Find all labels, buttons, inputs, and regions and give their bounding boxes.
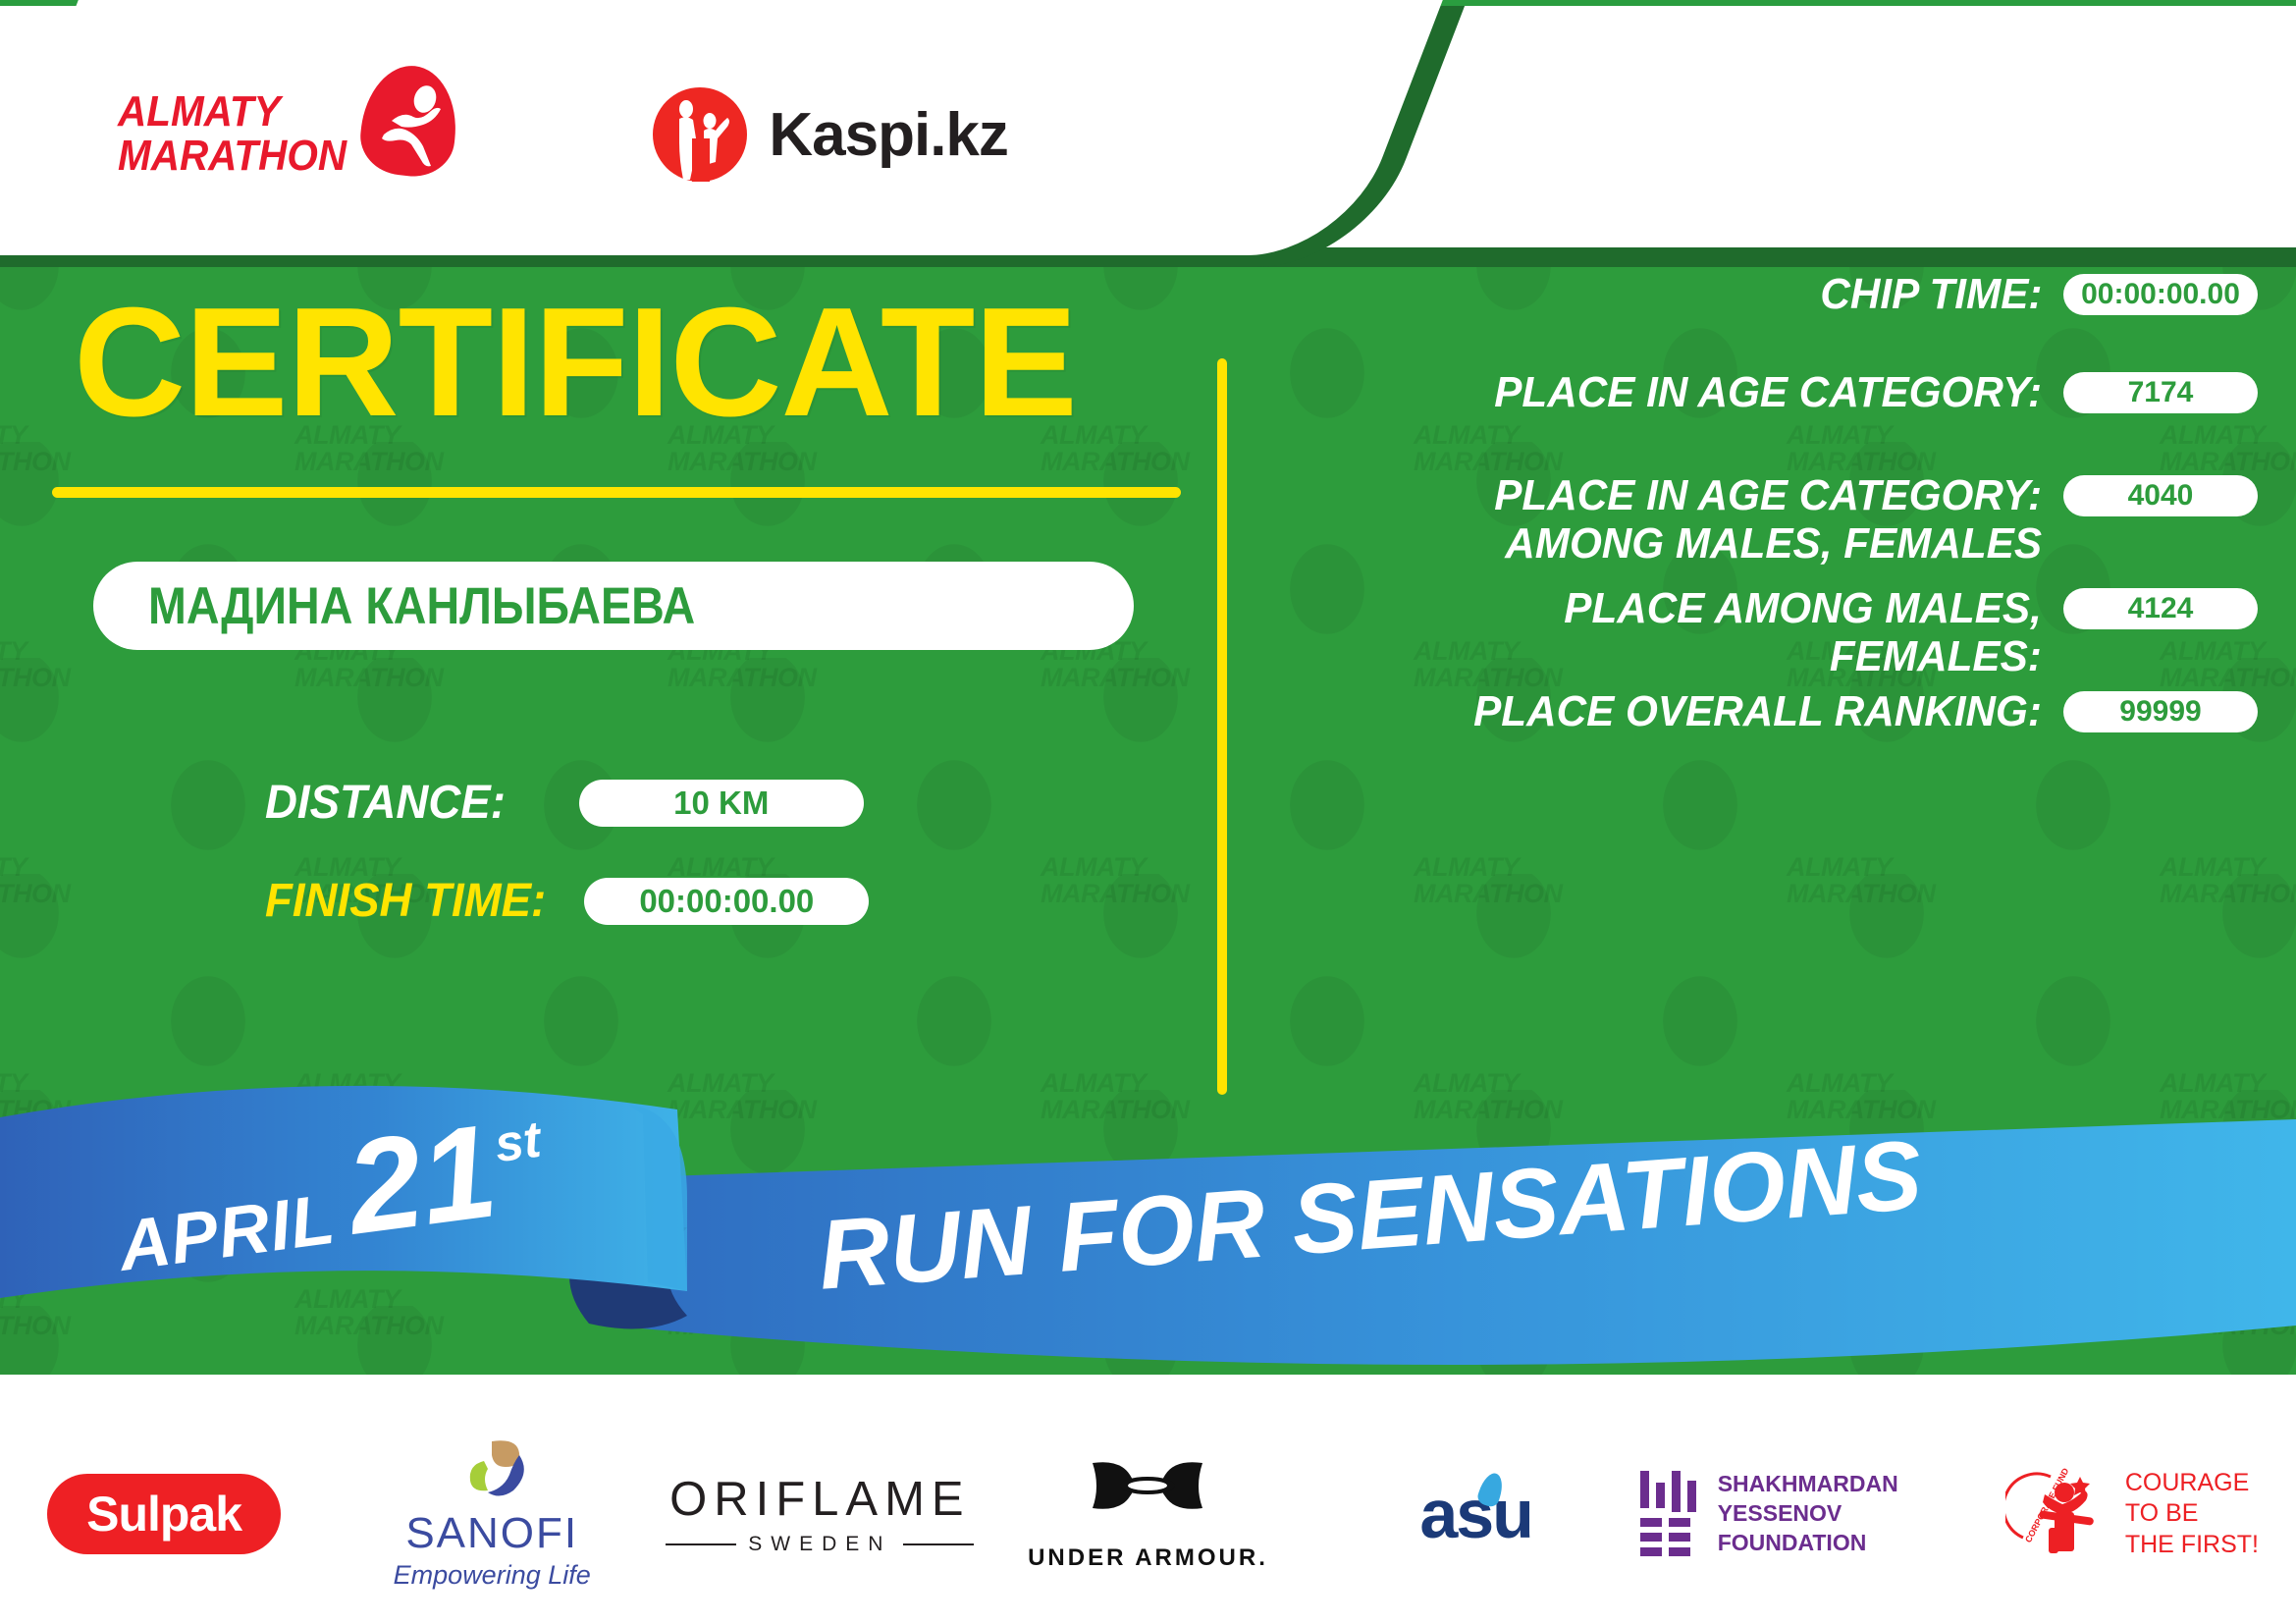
courage-fund-text: COURAGETO BETHE FIRST! xyxy=(2125,1468,2259,1560)
sponsor-oriflame: ORIFLAME SWEDEN xyxy=(656,1440,984,1588)
kaspi-wordmark: Kaspi.kz xyxy=(769,100,1008,170)
under-armour-mark-icon xyxy=(1087,1457,1208,1532)
sanofi-mark-icon xyxy=(447,1437,537,1500)
stat-row: PLACE OVERALL RANKING:99999 xyxy=(1266,687,2258,735)
distance-value: 10 KM xyxy=(579,780,864,827)
sponsor-sanofi: SANOFI Empowering Life xyxy=(328,1440,656,1588)
finish-time-row: FINISH TIME: 00:00:00.00 xyxy=(265,874,869,928)
oriflame-logo: ORIFLAME SWEDEN xyxy=(666,1472,974,1556)
sponsor-sulpak: Sulpak xyxy=(0,1440,328,1588)
finish-time-value: 00:00:00.00 xyxy=(584,878,869,925)
oriflame-rule-right xyxy=(903,1543,974,1545)
stat-label: PLACE OVERALL RANKING: xyxy=(1473,687,2042,735)
kaspi-people-circle-icon xyxy=(653,87,747,182)
almaty-marathon-line2: MARATHON xyxy=(118,135,347,179)
stat-value: 4040 xyxy=(2063,475,2258,516)
stat-value: 99999 xyxy=(2063,691,2258,732)
under-armour-name: UNDER ARMOUR. xyxy=(1028,1544,1268,1572)
oriflame-name: ORIFLAME xyxy=(666,1472,974,1527)
event-day-ordinal: st xyxy=(492,1110,545,1175)
sponsor-under-armour: UNDER ARMOUR. xyxy=(984,1440,1311,1588)
sponsor-bar: Sulpak SANOFI Empowering Life ORIFLAME S… xyxy=(0,1404,2296,1624)
yessenov-logo: SHAKHMARDAN YESSENOVFOUNDATION xyxy=(1640,1470,1968,1558)
page-title: CERTIFICATE xyxy=(74,285,1077,440)
oriflame-sub-row: SWEDEN xyxy=(666,1533,974,1556)
sponsor-yessenov: SHAKHMARDAN YESSENOVFOUNDATION xyxy=(1640,1440,1968,1588)
distance-row: DISTANCE: 10 KM xyxy=(265,776,864,830)
certificate-page: ALMATYMARATHONALMATYMARATHONALMATYMARATH… xyxy=(0,0,2296,1624)
finish-time-label: FINISH TIME: xyxy=(265,874,546,928)
participant-name: МАДИНА КАНЛЫБАЕВА xyxy=(148,576,695,636)
runner-drop-icon xyxy=(362,66,456,176)
sanofi-logo: SANOFI Empowering Life xyxy=(394,1437,591,1591)
almaty-marathon-line1: ALMATY xyxy=(118,90,347,135)
sponsor-asu: asu xyxy=(1312,1440,1640,1588)
under-armour-logo: UNDER ARMOUR. xyxy=(1028,1457,1268,1572)
sponsor-courage: CORPORATE FUND COURAGETO BETHE FIRST! xyxy=(1968,1440,2296,1588)
asu-logo: asu xyxy=(1419,1475,1532,1553)
stat-row: PLACE IN AGE CATEGORY:AMONG MALES, FEMAL… xyxy=(1266,471,2258,568)
yessenov-mark-icon xyxy=(1640,1471,1696,1556)
title-divider xyxy=(52,487,1181,498)
header: ALMATY MARATHON xyxy=(0,6,1433,269)
sanofi-tagline: Empowering Life xyxy=(394,1560,591,1591)
almaty-marathon-logo: ALMATY MARATHON xyxy=(118,90,456,179)
oriflame-sub: SWEDEN xyxy=(748,1533,891,1556)
vertical-divider xyxy=(1217,358,1227,1095)
courage-fund-logo: CORPORATE FUND COURAGETO BETHE FIRST! xyxy=(2005,1467,2259,1561)
stat-value: 00:00:00.00 xyxy=(2063,274,2258,315)
oriflame-rule-left xyxy=(666,1543,736,1545)
event-ribbon: APRIL 21 st RUN FOR SENSATIONS xyxy=(0,1080,2296,1404)
stat-label: CHIP TIME: xyxy=(1820,270,2042,318)
yessenov-name: SHAKHMARDAN YESSENOVFOUNDATION xyxy=(1718,1470,1968,1558)
participant-name-field: МАДИНА КАНЛЫБАЕВА xyxy=(93,562,1134,650)
stat-row: PLACE AMONG MALES,FEMALES:4124 xyxy=(1266,584,2258,681)
stat-row: PLACE IN AGE CATEGORY:7174 xyxy=(1266,368,2258,416)
kaspi-logo: Kaspi.kz xyxy=(653,87,1008,182)
distance-label: DISTANCE: xyxy=(265,776,506,830)
stat-label: PLACE IN AGE CATEGORY: xyxy=(1494,368,2042,416)
stat-value: 4124 xyxy=(2063,588,2258,629)
stat-label: PLACE AMONG MALES,FEMALES: xyxy=(1564,584,2042,681)
sanofi-name: SANOFI xyxy=(394,1509,591,1558)
courage-person-icon: CORPORATE FUND xyxy=(2005,1467,2111,1561)
sulpak-logo: Sulpak xyxy=(47,1474,281,1554)
stat-label: PLACE IN AGE CATEGORY:AMONG MALES, FEMAL… xyxy=(1494,471,2042,568)
event-day: 21 xyxy=(341,1110,503,1248)
asu-name: asu xyxy=(1419,1476,1532,1552)
stat-row: CHIP TIME:00:00:00.00 xyxy=(1266,270,2258,318)
stat-value: 7174 xyxy=(2063,372,2258,413)
